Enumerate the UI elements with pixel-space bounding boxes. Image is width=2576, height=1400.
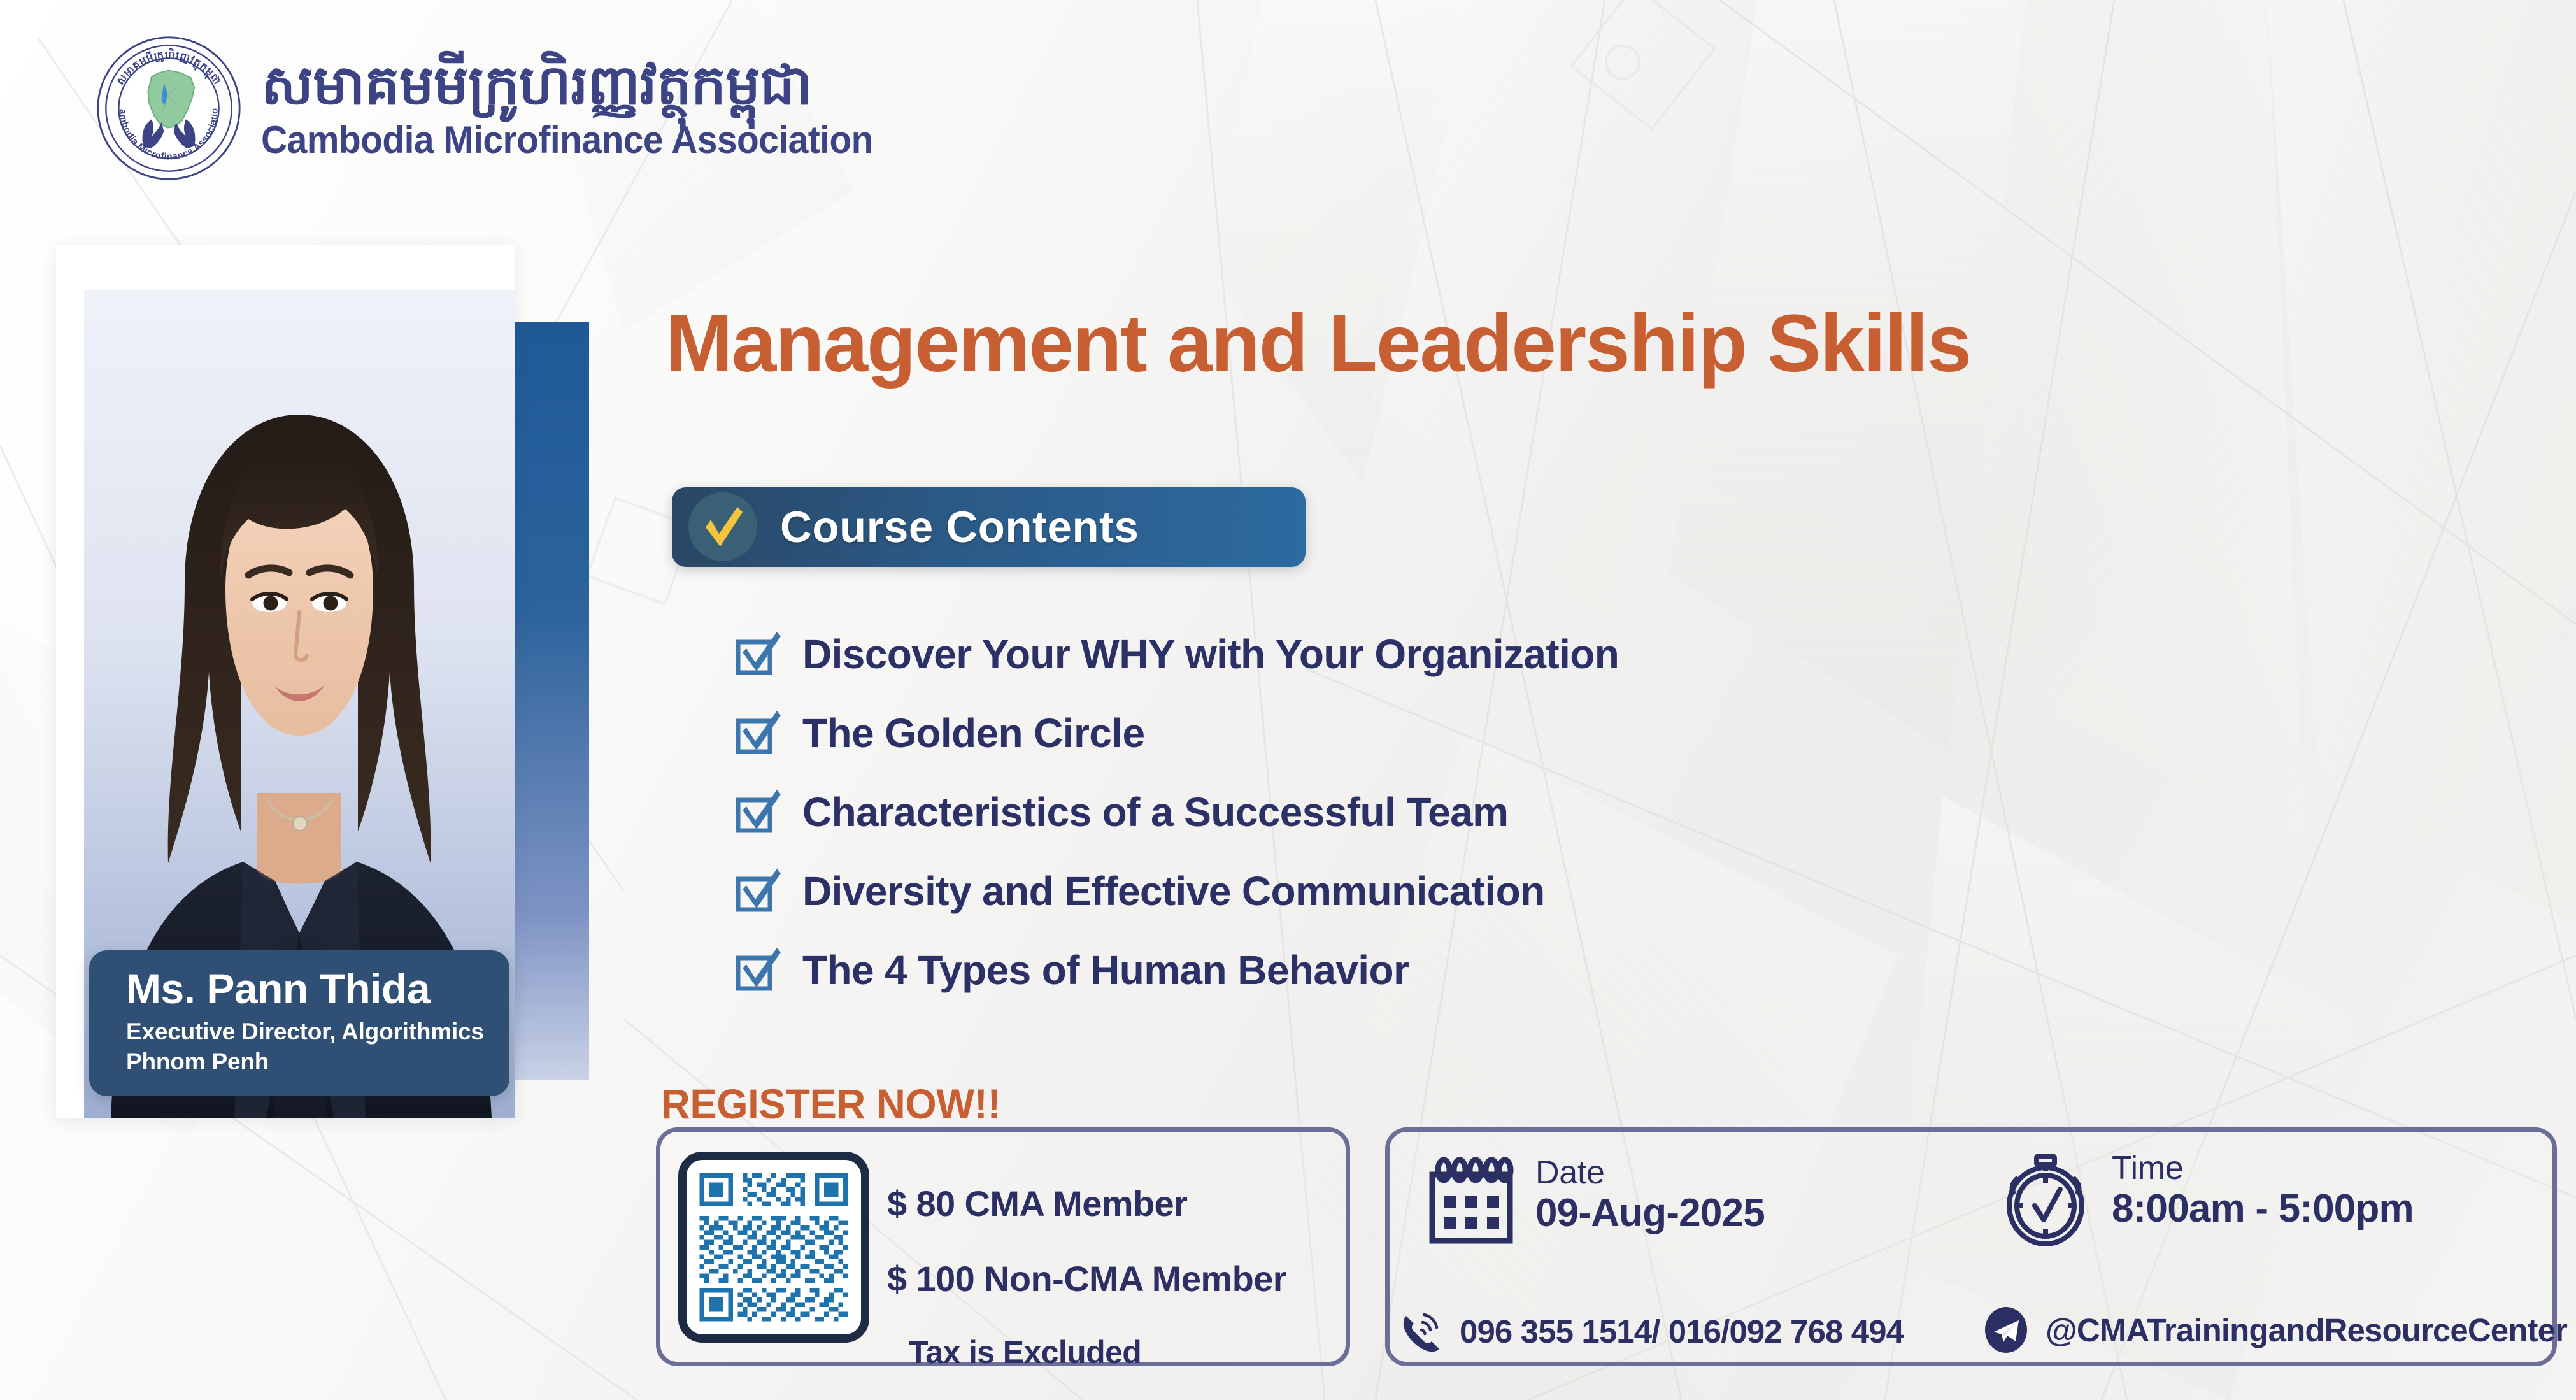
blue-checkbox-icon <box>732 787 782 837</box>
time-texts: Time 8:00am - 5:00pm <box>2112 1150 2414 1232</box>
date-label: Date <box>1535 1154 1765 1191</box>
time-block: Time 8:00am - 5:00pm <box>1996 1150 2414 1248</box>
blue-checkbox-icon <box>732 866 782 916</box>
phone-number: 096 355 1514/ 016/092 768 494 <box>1460 1313 1904 1350</box>
event-poster: សមាគមមីក្រូហិរញ្ញវត្ថុកម្ពុជា Cambodia M… <box>0 0 2576 1400</box>
phone-contact[interactable]: 096 355 1514/ 016/092 768 494 <box>1395 1306 1904 1357</box>
speaker-role: Executive Director, Algorithmics <box>126 1017 509 1047</box>
date-texts: Date 09-Aug-2025 <box>1535 1154 1765 1236</box>
telegram-paper-plane-icon <box>1981 1304 2032 1355</box>
date-block: Date 09-Aug-2025 <box>1423 1154 1765 1250</box>
list-item: The Golden Circle <box>732 700 1619 766</box>
blue-checkbox-icon <box>732 945 782 995</box>
yellow-checkmark-icon <box>698 502 748 552</box>
telegram-contact[interactable]: @CMATrainingandResourceCenter <box>1981 1304 2567 1355</box>
list-item: The 4 Types of Human Behavior <box>732 937 1619 1003</box>
list-item: Discover Your WHY with Your Organization <box>732 621 1619 687</box>
course-contents-label: Course Contents <box>780 502 1139 552</box>
brand-logo-block: សមាគមមីក្រូហិរញ្ញវត្ថុកម្ពុជា Cambodia M… <box>96 35 906 182</box>
page-title: Management and Leadership Skills <box>665 299 2494 389</box>
speaker-name: Ms. Pann Thida <box>126 967 509 1011</box>
phone-ringing-icon <box>1395 1306 1446 1357</box>
brand-name-block: សមាគមមីក្រូហិរញ្ញវត្ថុកម្ពុជា Cambodia M… <box>261 55 906 161</box>
blue-checkbox-icon <box>732 708 782 758</box>
price-list: $ 80 CMA Member $ 100 Non-CMA Member Tax… <box>887 1186 1286 1368</box>
speaker-name-card: Ms. Pann Thida Executive Director, Algor… <box>89 950 509 1096</box>
blue-checkbox-icon <box>732 629 782 679</box>
list-item-label: Discover Your WHY with Your Organization <box>802 631 1619 678</box>
brand-name-english: Cambodia Microfinance Association <box>261 118 873 162</box>
time-label: Time <box>2112 1150 2414 1187</box>
date-value: 09-Aug-2025 <box>1535 1191 1765 1236</box>
list-item-label: Diversity and Effective Communication <box>802 868 1545 915</box>
cma-circular-emblem-icon: សមាគមមីក្រូហិរញ្ញវត្ថុកម្ពុជា Cambodia M… <box>96 35 242 182</box>
badge-circle <box>688 492 757 561</box>
list-item-label: The 4 Types of Human Behavior <box>802 946 1409 994</box>
price-cma-member: $ 80 CMA Member <box>887 1186 1286 1222</box>
course-contents-list: Discover Your WHY with Your Organization… <box>732 621 1619 1003</box>
price-non-cma-member: $ 100 Non-CMA Member <box>887 1261 1286 1297</box>
time-value: 8:00am - 5:00pm <box>2112 1187 2414 1232</box>
telegram-handle: @CMATrainingandResourceCenter <box>2046 1311 2567 1349</box>
speaker-city: Phnom Penh <box>126 1047 509 1077</box>
photo-accent-bar <box>506 322 589 1080</box>
qr-code-icon[interactable] <box>678 1152 869 1343</box>
course-contents-badge: Course Contents <box>672 487 1306 567</box>
stopwatch-icon <box>1996 1150 2095 1248</box>
tax-note: Tax is Excluded <box>909 1336 1286 1368</box>
register-now-heading: REGISTER NOW!! <box>661 1080 1000 1128</box>
list-item-label: Characteristics of a Successful Team <box>802 789 1508 836</box>
list-item: Diversity and Effective Communication <box>732 858 1619 924</box>
calendar-icon <box>1423 1154 1519 1250</box>
list-item: Characteristics of a Successful Team <box>732 779 1619 845</box>
list-item-label: The Golden Circle <box>802 710 1144 757</box>
brand-name-khmer: សមាគមមីក្រូហិរញ្ញវត្ថុកម្ពុជា <box>261 55 906 116</box>
